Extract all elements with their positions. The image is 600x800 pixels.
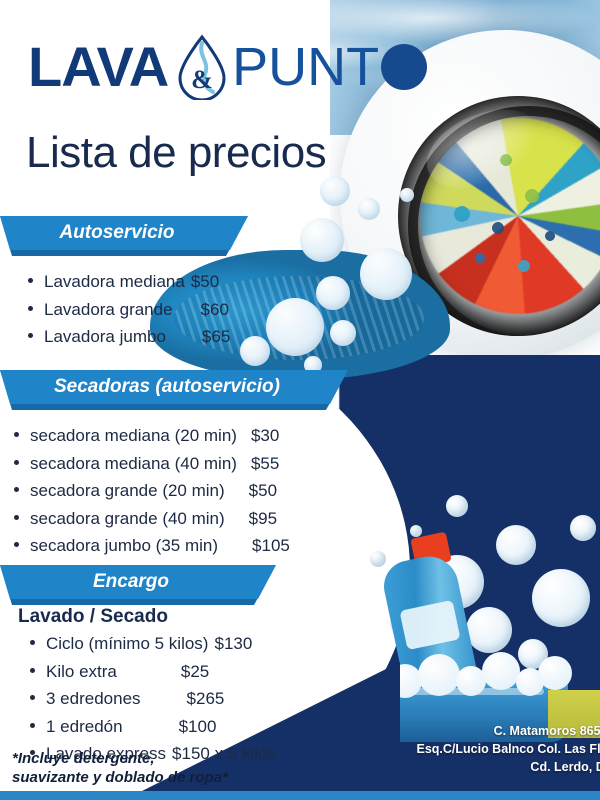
footnote: *Incluye detergente, suavizante y doblad… bbox=[12, 750, 228, 788]
item-price: $100 bbox=[179, 713, 217, 741]
list-item: Lavadora grande $60 bbox=[28, 296, 328, 324]
bullet-icon bbox=[14, 487, 19, 492]
address-line-3: Cd. Lerdo, Dgo bbox=[330, 759, 600, 777]
item-name: secadora grande (40 min) bbox=[30, 505, 225, 533]
water-drop-icon: & bbox=[174, 34, 230, 100]
address-line-1: C. Matamoros 865 Su bbox=[330, 723, 600, 741]
brand-circle-o-icon bbox=[381, 44, 427, 90]
list-item: 3 edredones $265 bbox=[30, 685, 344, 713]
brand-name-lava: LAVA bbox=[28, 39, 168, 95]
list-item: secadora grande (20 min) $50 bbox=[14, 477, 344, 505]
item-name: secadora grande (20 min) bbox=[30, 477, 225, 505]
section-list-secadoras: secadora mediana (20 min) $30 secadora m… bbox=[14, 422, 344, 560]
banner-label: Autoservicio bbox=[0, 222, 248, 244]
list-item: Kilo extra $25 bbox=[30, 658, 344, 686]
list-item: Ciclo (mínimo 5 kilos) $130 bbox=[30, 630, 344, 658]
item-name: Lavadora mediana bbox=[44, 268, 185, 296]
bullet-icon bbox=[14, 432, 19, 437]
bullet-icon bbox=[30, 695, 35, 700]
section-list-autoservicio: Lavadora mediana $50 Lavadora grande $60… bbox=[28, 268, 328, 351]
bullet-icon bbox=[28, 333, 33, 338]
list-item: secadora mediana (20 min) $30 bbox=[14, 422, 344, 450]
item-name: Ciclo (mínimo 5 kilos) bbox=[46, 630, 208, 658]
foam-cluster bbox=[382, 650, 572, 698]
section-banner-encargo: Encargo bbox=[0, 565, 276, 599]
item-price: $60 bbox=[201, 296, 229, 324]
bullet-icon bbox=[28, 278, 33, 283]
item-name: secadora jumbo (35 min) bbox=[30, 532, 218, 560]
bottom-strip bbox=[0, 791, 600, 800]
bullet-icon bbox=[30, 640, 35, 645]
item-name: secadora mediana (40 min) bbox=[30, 450, 237, 478]
page-title: Lista de precios bbox=[26, 128, 326, 178]
bullet-icon bbox=[30, 723, 35, 728]
bullet-icon bbox=[14, 515, 19, 520]
banner-label: Secadoras (autoservicio) bbox=[0, 376, 348, 398]
list-item: secadora jumbo (35 min) $105 bbox=[14, 532, 344, 560]
item-name: Lavadora grande bbox=[44, 296, 173, 324]
brand-logo: LAVA & PUNT bbox=[28, 36, 427, 98]
bullet-icon bbox=[30, 668, 35, 673]
bullet-icon bbox=[14, 542, 19, 547]
banner-label: Encargo bbox=[0, 571, 276, 593]
bullet-icon bbox=[28, 306, 33, 311]
footnote-line-2: suavizante y doblado de ropa* bbox=[12, 769, 228, 788]
item-price: $65 bbox=[202, 323, 230, 351]
item-price: $50 bbox=[249, 477, 277, 505]
footnote-line-1: *Incluye detergente, bbox=[12, 750, 228, 769]
list-item: secadora grande (40 min) $95 bbox=[14, 505, 344, 533]
section-list-encargo: Lavado / Secado Ciclo (mínimo 5 kilos) $… bbox=[14, 606, 344, 768]
price-list-autoservicio: Lavadora mediana $50 Lavadora grande $60… bbox=[28, 268, 328, 351]
item-price: $105 bbox=[252, 532, 290, 560]
item-price: $95 bbox=[249, 505, 277, 533]
list-item: 1 edredón $100 bbox=[30, 713, 344, 741]
item-price: $30 bbox=[251, 422, 279, 450]
item-name: Lavadora jumbo bbox=[44, 323, 166, 351]
subheading-lavado-secado: Lavado / Secado bbox=[18, 606, 344, 628]
list-item: Lavadora mediana $50 bbox=[28, 268, 328, 296]
item-price: $25 bbox=[181, 658, 209, 686]
list-item: secadora mediana (40 min) $55 bbox=[14, 450, 344, 478]
address-line-2: Esq.C/Lucio Balnco Col. Las Flore bbox=[330, 741, 600, 759]
bullet-icon bbox=[14, 460, 19, 465]
item-name: 1 edredón bbox=[46, 713, 123, 741]
price-list-secadoras: secadora mediana (20 min) $30 secadora m… bbox=[14, 422, 344, 560]
price-list-encargo: Ciclo (mínimo 5 kilos) $130 Kilo extra $… bbox=[30, 630, 344, 768]
item-name: Kilo extra bbox=[46, 658, 117, 686]
section-banner-secadoras: Secadoras (autoservicio) bbox=[0, 370, 348, 404]
list-item: Lavadora jumbo $65 bbox=[28, 323, 328, 351]
svg-text:&: & bbox=[191, 65, 213, 94]
brand-name-punto: PUNT bbox=[232, 40, 379, 94]
item-price: $55 bbox=[251, 450, 279, 478]
price-list-poster: LAVA & PUNT Lista de precios Autoservici… bbox=[0, 0, 600, 800]
section-banner-autoservicio: Autoservicio bbox=[0, 216, 248, 250]
item-name: secadora mediana (20 min) bbox=[30, 422, 237, 450]
item-name: 3 edredones bbox=[46, 685, 141, 713]
item-price: $130 bbox=[214, 630, 252, 658]
item-price: $50 bbox=[191, 268, 219, 296]
address-block: C. Matamoros 865 Su Esq.C/Lucio Balnco C… bbox=[330, 723, 600, 776]
item-price: $265 bbox=[187, 685, 225, 713]
